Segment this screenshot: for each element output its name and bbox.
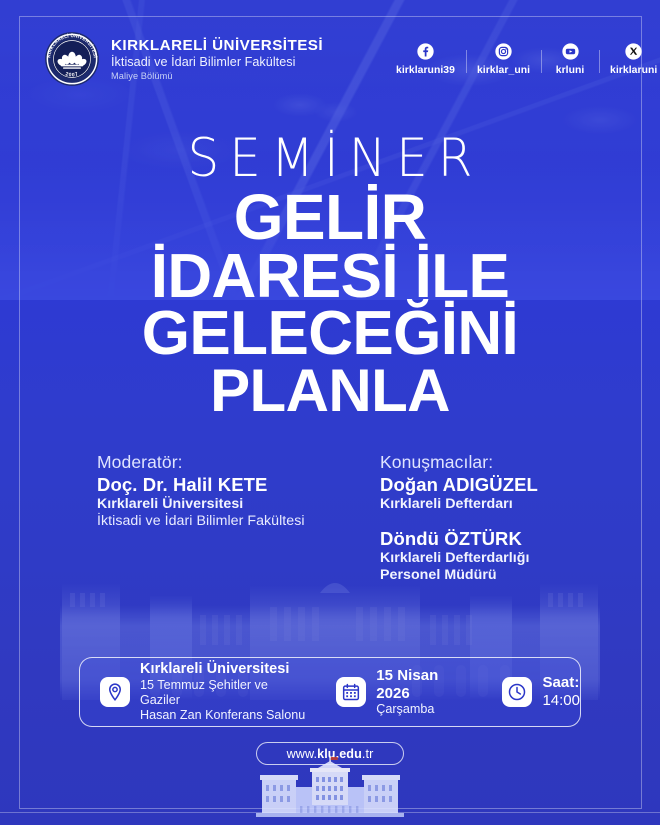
headline-line-1: GELİR [0, 188, 660, 248]
university-seal-logo: KIRKLARELİ ÜNİVERSİTESİ 2007 [44, 31, 100, 87]
social-link-instagram[interactable]: kirklar_uni [466, 43, 541, 76]
facebook-icon [417, 43, 434, 60]
youtube-icon [562, 43, 579, 60]
location-address-1: 15 Temmuz Şehitler ve Gaziler [140, 678, 307, 707]
calendar-icon [336, 677, 366, 707]
speakers-spacer [380, 513, 538, 528]
moderator-affiliation-1: Kırklareli Üniversitesi [97, 496, 305, 513]
social-links: kirklaruni39 kirklar_uni krluni [385, 28, 660, 90]
social-handle-youtube: krluni [556, 65, 585, 76]
event-location: Kırklareli Üniversitesi 15 Temmuz Şehitl… [100, 661, 307, 722]
university-brand: KIRKLARELİ ÜNİVERSİTESİ 2007 KIRKLAR [44, 31, 323, 87]
headline-line-2: İDARESİ İLE [0, 248, 660, 306]
speaker-name-2: Döndü ÖZTÜRK [380, 528, 538, 550]
moderator-name: Doç. Dr. Halil KETE [97, 474, 305, 496]
moderator-affiliation-2: İktisadi ve İdari Bilimler Fakültesi [97, 513, 305, 530]
headline-line-4: PLANLA [0, 363, 660, 419]
headline-line-3: GELECEĞİNİ [0, 305, 660, 363]
brand-faculty-name: İktisadi ve İdari Bilimler Fakültesi [111, 55, 323, 69]
brand-university-name: KIRKLARELİ ÜNİVERSİTESİ [111, 37, 323, 54]
date-value: 15 Nisan 2026 [376, 667, 473, 702]
seminar-poster: KIRKLARELİ ÜNİVERSİTESİ 2007 KIRKLAR [0, 0, 660, 825]
speaker-affiliation-2b: Personel Müdürü [380, 567, 538, 584]
poster-headline: GELİR İDARESİ İLE GELECEĞİNİ PLANLA [0, 188, 660, 419]
time-value: 14:00 [542, 692, 580, 710]
speaker-affiliation-1: Kırklareli Defterdarı [380, 496, 538, 513]
social-handle-facebook: kirklaruni39 [396, 65, 455, 76]
social-link-youtube[interactable]: krluni [541, 43, 599, 76]
speaker-name-1: Doğan ADIGÜZEL [380, 474, 538, 496]
moderator-role-label: Moderatör: [97, 452, 305, 473]
social-handle-x: kirklaruni [610, 65, 657, 76]
location-address-2: Hasan Zan Konferans Salonu [140, 708, 307, 723]
date-weekday: Çarşamba [376, 702, 473, 717]
event-time: Saat: 14:00 [502, 674, 580, 709]
social-link-facebook[interactable]: kirklaruni39 [385, 43, 466, 76]
speakers-column: Konuşmacılar: Doğan ADIGÜZEL Kırklareli … [380, 452, 538, 585]
speaker-item: Doğan ADIGÜZEL Kırklareli Defterdarı [380, 474, 538, 513]
location-name: Kırklareli Üniversitesi [140, 661, 307, 678]
event-info-box: Kırklareli Üniversitesi 15 Temmuz Şehitl… [79, 657, 581, 727]
clock-icon [502, 677, 532, 707]
location-pin-icon [100, 677, 130, 707]
footer-building-illustration [0, 757, 660, 825]
speaker-affiliation-2a: Kırklareli Defterdarlığı [380, 550, 538, 567]
x-twitter-icon [625, 43, 642, 60]
speaker-item: Döndü ÖZTÜRK Kırklareli Defterdarlığı Pe… [380, 528, 538, 584]
poster-kicker: SEMİNER [0, 132, 660, 185]
instagram-icon [495, 43, 512, 60]
event-date: 15 Nisan 2026 Çarşamba [336, 667, 473, 717]
moderator-column: Moderatör: Doç. Dr. Halil KETE Kırklarel… [97, 452, 305, 530]
people-section: Moderatör: Doç. Dr. Halil KETE Kırklarel… [0, 452, 660, 587]
brand-department-name: Maliye Bölümü [111, 71, 323, 81]
social-handle-instagram: kirklar_uni [477, 65, 530, 76]
poster-header: KIRKLARELİ ÜNİVERSİTESİ 2007 KIRKLAR [0, 28, 660, 90]
time-label: Saat: [542, 674, 580, 692]
social-link-x[interactable]: kirklaruni [599, 43, 660, 76]
speakers-role-label: Konuşmacılar: [380, 452, 538, 473]
